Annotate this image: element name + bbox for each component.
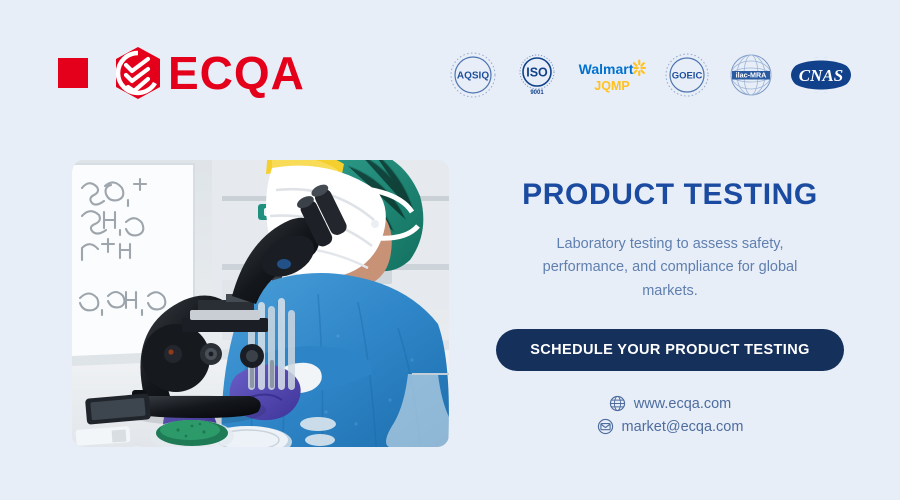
website-text: www.ecqa.com bbox=[634, 396, 732, 412]
email-text: market@ecqa.com bbox=[622, 419, 744, 435]
ecqa-wordmark: ECQA bbox=[168, 50, 305, 96]
cert-badge-aqsiq: AQSIQ bbox=[448, 50, 498, 100]
cert-badge-iso: ISO 9001 bbox=[512, 50, 562, 100]
contact-info: www.ecqa.com market@ecqa.com bbox=[470, 395, 870, 435]
cert-sublabel-walmart: JQMP bbox=[594, 79, 629, 93]
walmart-spark-icon bbox=[633, 60, 646, 77]
certification-badges: AQSIQ ISO 9001 Walmart bbox=[448, 44, 852, 106]
cert-label-walmart: Walmart bbox=[579, 61, 634, 77]
cert-label-cnas: CNAS bbox=[799, 66, 843, 85]
contact-email[interactable]: market@ecqa.com bbox=[597, 418, 744, 435]
promo-description: Laboratory testing to assess safety, per… bbox=[520, 233, 820, 303]
cert-badge-goeic: GOEIC bbox=[662, 50, 712, 100]
cert-sublabel-iso: 9001 bbox=[530, 90, 544, 96]
globe-icon bbox=[609, 395, 626, 412]
contact-website[interactable]: www.ecqa.com bbox=[609, 395, 732, 412]
cert-label-goeic: GOEIC bbox=[672, 71, 703, 82]
banner-header: ECQA AQSIQ ISO 9001 bbox=[0, 0, 900, 140]
cert-badge-ilac: ilac-MRA bbox=[726, 50, 776, 100]
cta-container: SCHEDULE YOUR PRODUCT TESTING bbox=[470, 329, 870, 371]
ecqa-hexagon-mark-icon bbox=[110, 45, 166, 101]
red-square-icon bbox=[58, 58, 88, 88]
page-title: PRODUCT TESTING bbox=[470, 178, 870, 211]
cert-label-aqsiq: AQSIQ bbox=[457, 71, 489, 82]
promo-banner: ECQA AQSIQ ISO 9001 bbox=[0, 0, 900, 500]
lab-testing-photo bbox=[72, 160, 449, 447]
ecqa-logo[interactable]: ECQA bbox=[58, 48, 305, 98]
envelope-icon bbox=[597, 418, 614, 435]
cert-label-ilac: ilac-MRA bbox=[736, 71, 767, 80]
promo-content: PRODUCT TESTING Laboratory testing to as… bbox=[470, 160, 870, 450]
cert-badge-cnas: CNAS bbox=[790, 50, 852, 100]
cert-label-iso: ISO bbox=[526, 66, 548, 80]
cert-badge-walmart: Walmart JQMP bbox=[576, 50, 648, 100]
schedule-product-testing-button[interactable]: SCHEDULE YOUR PRODUCT TESTING bbox=[496, 329, 844, 371]
